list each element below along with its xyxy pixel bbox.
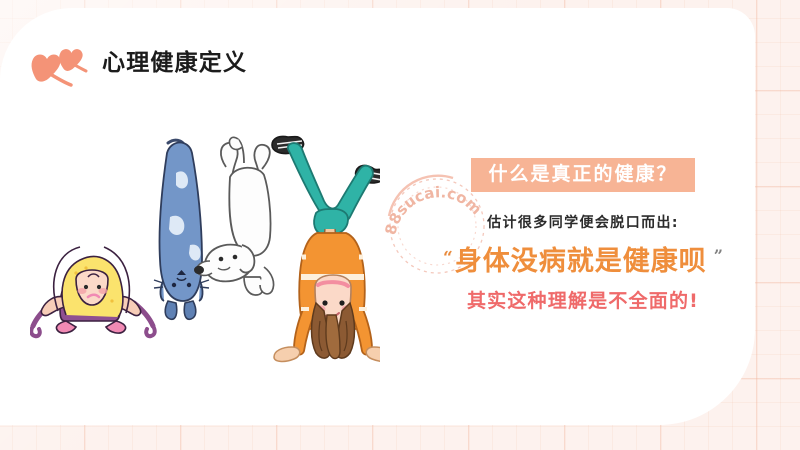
quote-open-mark: “ xyxy=(443,250,453,267)
figure-white-dog-handstand xyxy=(194,137,274,295)
double-heart-icon xyxy=(26,38,88,88)
message-block: 什么是真正的健康？ 估计很多同学便会脱口而出: “ 身体没病就是健康呗 ” 其实… xyxy=(418,158,748,313)
slide-header: 心理健康定义 xyxy=(26,38,247,88)
page-title: 心理健康定义 xyxy=(102,52,247,75)
subline-text: 估计很多同学便会脱口而出: xyxy=(418,212,748,232)
figure-girl-handstand xyxy=(272,136,380,361)
quote-close-mark: ” xyxy=(714,248,723,264)
quote-text: 身体没病就是健康呗 xyxy=(455,248,707,275)
quote-row: “ 身体没病就是健康呗 ” xyxy=(418,248,748,275)
figure-girl-bridge-pose xyxy=(31,247,154,336)
question-banner: 什么是真正的健康？ xyxy=(471,158,694,192)
slide-canvas: 心理健康定义 xyxy=(0,0,800,450)
illustration-group xyxy=(30,125,380,365)
conclusion-text: 其实这种理解是不全面的! xyxy=(418,286,748,313)
figure-blue-cat-handstand xyxy=(154,140,209,319)
